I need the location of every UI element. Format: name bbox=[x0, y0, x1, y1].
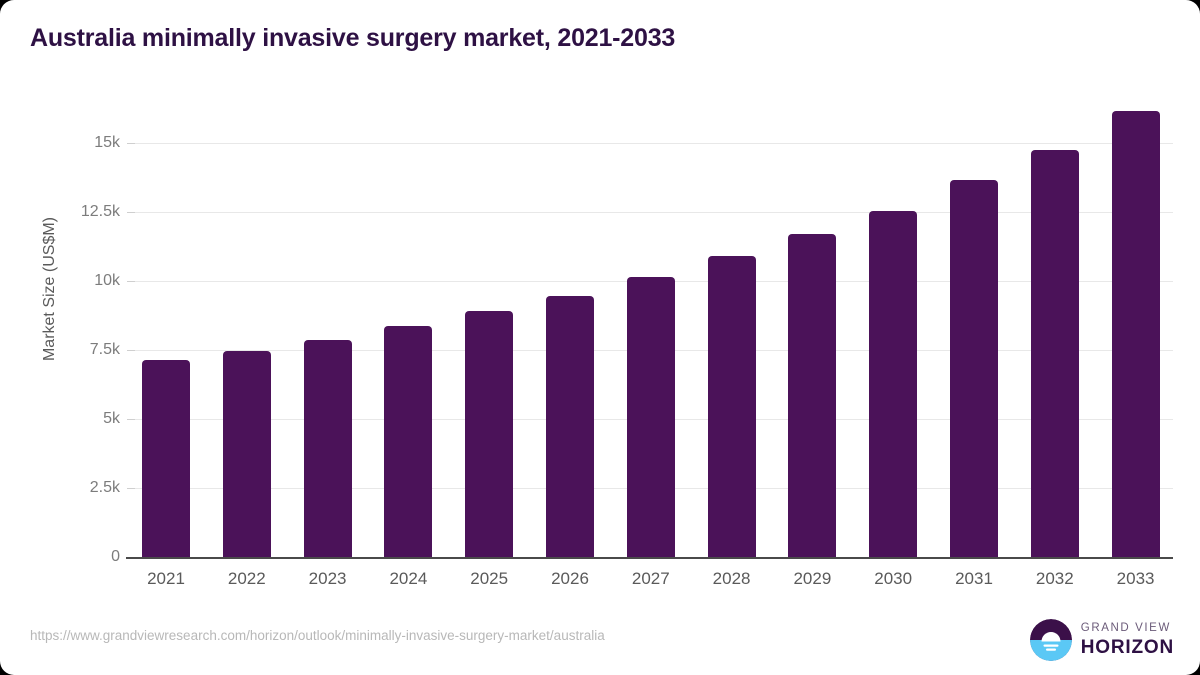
gridline bbox=[133, 212, 1173, 213]
y-tick-label: 10k bbox=[48, 272, 120, 290]
logo-text-grand-view: GRAND VIEW bbox=[1081, 623, 1174, 635]
bar-2021[interactable] bbox=[142, 360, 190, 557]
y-tick-label: 12.5k bbox=[48, 203, 120, 221]
x-tick-label-2021: 2021 bbox=[126, 569, 206, 589]
gridline bbox=[133, 143, 1173, 144]
x-tick-label-2026: 2026 bbox=[530, 569, 610, 589]
bar-2028[interactable] bbox=[708, 256, 756, 557]
bar-2023[interactable] bbox=[304, 340, 352, 557]
x-tick-label-2029: 2029 bbox=[772, 569, 852, 589]
logo-text-horizon: HORIZON bbox=[1081, 638, 1174, 657]
y-tick-mark bbox=[127, 488, 135, 489]
bar-2032[interactable] bbox=[1031, 150, 1079, 557]
y-tick-label: 5k bbox=[48, 410, 120, 428]
bar-2024[interactable] bbox=[384, 326, 432, 557]
chart-canvas: Australia minimally invasive surgery mar… bbox=[0, 0, 1200, 675]
y-tick-label: 2.5k bbox=[48, 479, 120, 497]
bar-2033[interactable] bbox=[1112, 111, 1160, 557]
plot-area: Market Size (US$M) 02.5k5k7.5k10k12.5k15… bbox=[0, 0, 1200, 675]
bar-2025[interactable] bbox=[465, 311, 513, 557]
x-tick-label-2027: 2027 bbox=[611, 569, 691, 589]
bar-2026[interactable] bbox=[546, 296, 594, 557]
x-tick-label-2031: 2031 bbox=[934, 569, 1014, 589]
x-tick-label-2028: 2028 bbox=[692, 569, 772, 589]
x-tick-label-2030: 2030 bbox=[853, 569, 933, 589]
grand-view-horizon-logo[interactable]: GRAND VIEW HORIZON bbox=[1030, 619, 1174, 661]
x-tick-label-2032: 2032 bbox=[1015, 569, 1095, 589]
bar-2022[interactable] bbox=[223, 351, 271, 557]
y-tick-mark bbox=[127, 212, 135, 213]
source-url[interactable]: https://www.grandviewresearch.com/horizo… bbox=[30, 628, 605, 643]
y-tick-label: 7.5k bbox=[48, 341, 120, 359]
y-tick-label: 15k bbox=[48, 134, 120, 152]
x-axis-line bbox=[126, 557, 1173, 559]
x-tick-label-2025: 2025 bbox=[449, 569, 529, 589]
y-tick-mark bbox=[127, 350, 135, 351]
bar-2031[interactable] bbox=[950, 180, 998, 557]
bar-2029[interactable] bbox=[788, 234, 836, 557]
horizon-sun-icon-svg bbox=[1030, 619, 1072, 661]
bar-2027[interactable] bbox=[627, 277, 675, 557]
y-tick-label: 0 bbox=[48, 548, 120, 566]
y-tick-mark bbox=[127, 419, 135, 420]
x-tick-label-2033: 2033 bbox=[1096, 569, 1176, 589]
horizon-sun-icon bbox=[1030, 619, 1072, 661]
logo-wordmark: GRAND VIEW HORIZON bbox=[1081, 623, 1174, 658]
x-tick-label-2023: 2023 bbox=[288, 569, 368, 589]
y-tick-mark bbox=[127, 281, 135, 282]
bar-2030[interactable] bbox=[869, 211, 917, 557]
y-tick-mark bbox=[127, 143, 135, 144]
x-tick-label-2024: 2024 bbox=[368, 569, 448, 589]
x-tick-label-2022: 2022 bbox=[207, 569, 287, 589]
